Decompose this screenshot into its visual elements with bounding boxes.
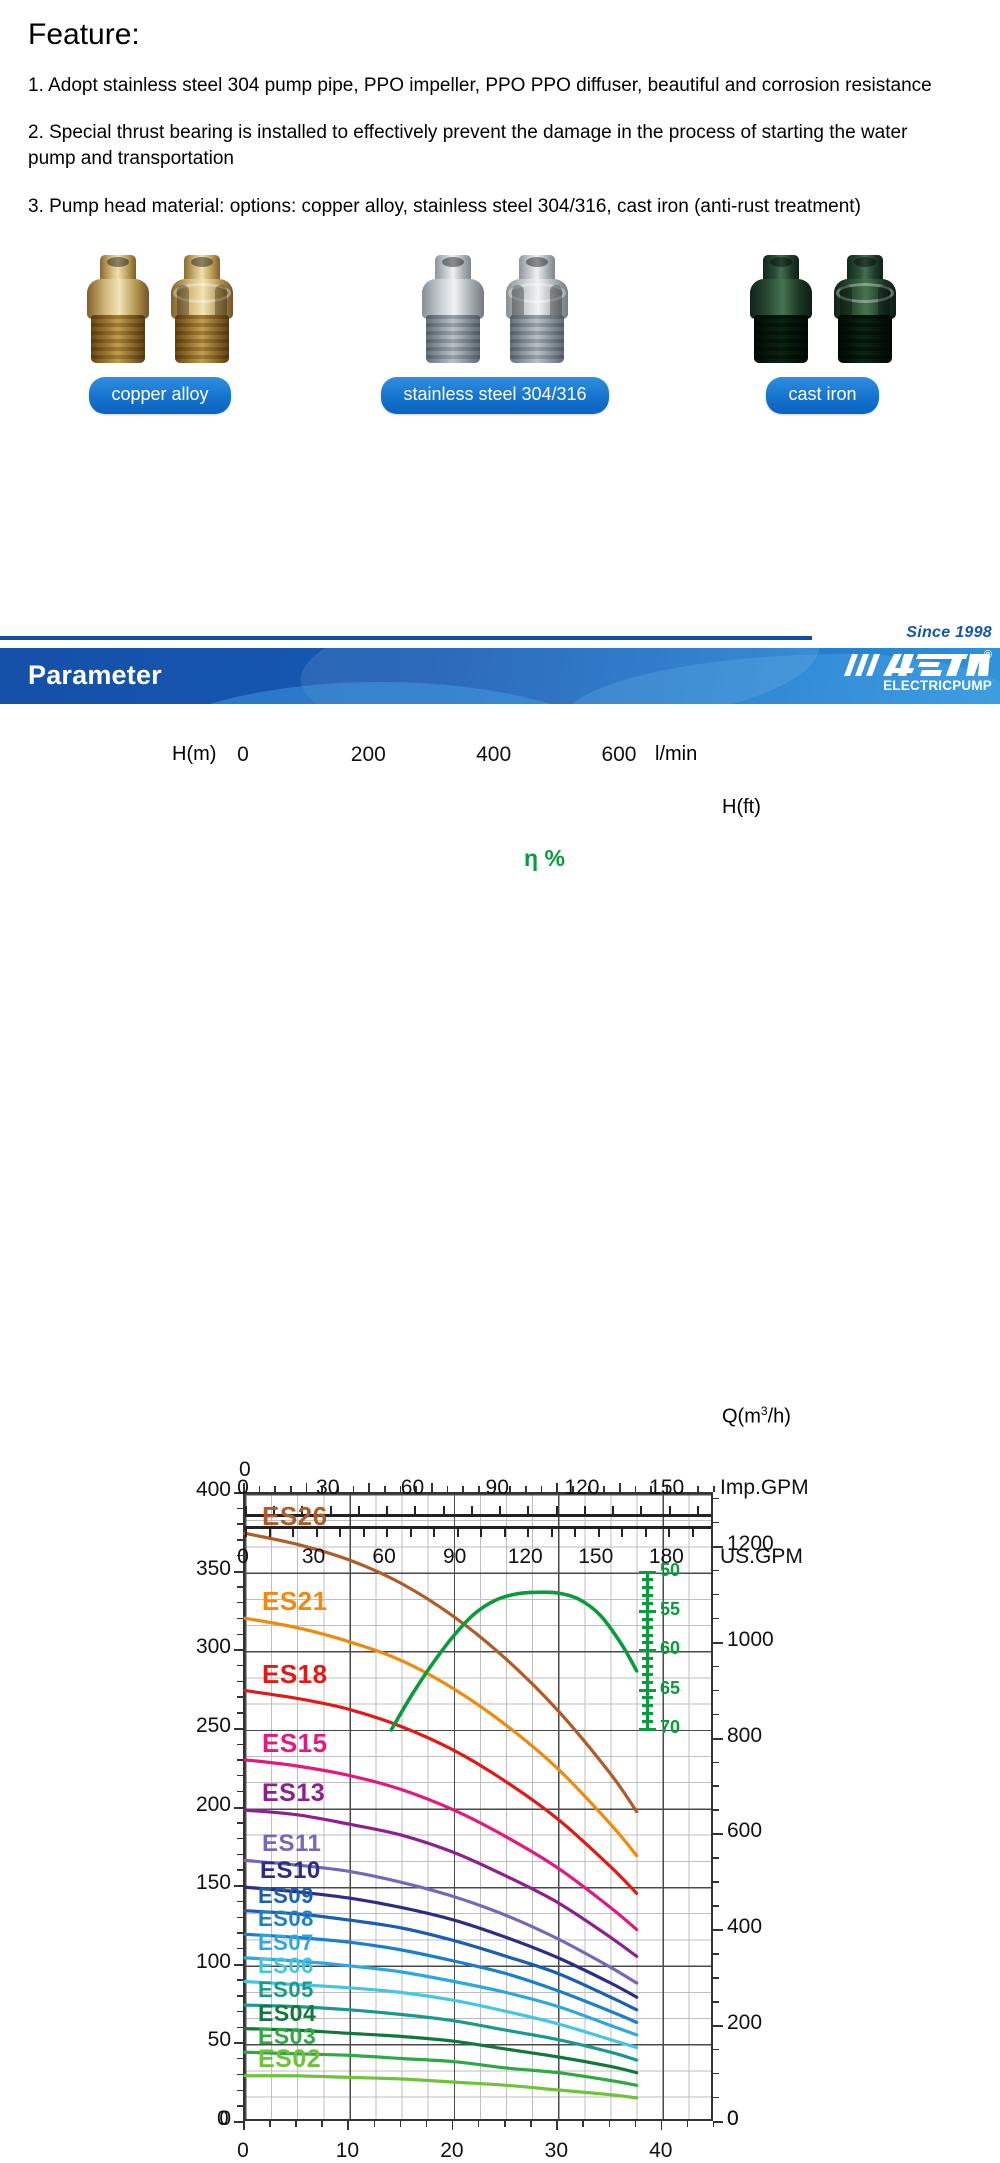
left-minor-tick [237, 1995, 243, 1996]
right-minor-tick [713, 1618, 719, 1619]
left-minor-tick [237, 1681, 243, 1682]
left-minor-tick [237, 1508, 243, 1509]
left-minor-tick [237, 2027, 243, 2028]
material-badge-copper-alloy[interactable]: copper alloy [89, 377, 230, 414]
left-minor-tick [237, 1602, 243, 1603]
series-label-ES10: ES10 [260, 1857, 321, 1885]
efficiency-tick [642, 1720, 653, 1723]
efficiency-tick [642, 1578, 653, 1581]
efficiency-tick [639, 1649, 656, 1652]
mastra-logo-icon: ® [802, 652, 992, 677]
pump-head-solid-icon [418, 255, 488, 363]
pump-head-solid-icon [746, 255, 816, 363]
right-minor-tick [713, 1785, 719, 1786]
right-minor-tick [713, 1522, 719, 1523]
right-minor-tick [713, 1546, 719, 1547]
left-minor-tick [237, 1523, 243, 1524]
series-label-ES18: ES18 [262, 1659, 328, 1690]
pump-head-strainer-icon [830, 255, 900, 363]
bottom-minor-tick [504, 2121, 505, 2127]
efficiency-tick [642, 1634, 653, 1637]
right-tick-label: 800 [727, 1724, 762, 1748]
right-tick-label: 400 [727, 1915, 762, 1939]
bottom-minor-tick [556, 2121, 557, 2127]
ruler-tick-label: 180 [642, 1545, 690, 1569]
efficiency-tick [642, 1641, 653, 1644]
ruler-tick-label: 30 [304, 1476, 352, 1500]
cast-iron-part-images [715, 248, 930, 363]
left-minor-tick [237, 1979, 243, 1980]
ruler-tick [245, 1528, 247, 1537]
top-tick-mark [619, 1483, 621, 1492]
feature-item-2: 2. Special thrust bearing is installed t… [28, 120, 933, 172]
top-tick-mark [635, 1486, 637, 1492]
feature-title: Feature: [28, 18, 972, 51]
left-minor-tick [237, 1665, 243, 1666]
left-minor-tick [237, 1618, 243, 1619]
top-tick-mark [713, 1486, 715, 1492]
axis-label-q: Q(m3/h) [722, 1404, 791, 1429]
efficiency-tick [639, 1728, 656, 1731]
registered-trademark-icon: ® [984, 650, 992, 661]
efficiency-tick [642, 1673, 653, 1676]
right-minor-tick [713, 2001, 719, 2002]
banner-title: Parameter [28, 660, 162, 691]
left-minor-tick [237, 1571, 243, 1572]
bottom-minor-tick [426, 2121, 427, 2127]
left-minor-tick [237, 1586, 243, 1587]
bottom-tick-label: 0 [221, 2139, 265, 2163]
pump-head-strainer-icon [502, 255, 572, 363]
series-label-ES08: ES08 [258, 1906, 314, 1932]
right-minor-tick [713, 1809, 719, 1810]
ruler-tick [386, 1506, 388, 1515]
right-tick-label: 600 [727, 1819, 762, 1843]
ruler-tick [574, 1528, 576, 1537]
efficiency-tick-label: 55 [660, 1599, 680, 1620]
left-tick-label: 250 [165, 1714, 231, 1738]
bottom-minor-tick [582, 2121, 583, 2127]
ruler-tick [245, 1506, 247, 1515]
right-tick-label: 1000 [727, 1628, 774, 1652]
pump-head-strainer-icon [167, 255, 237, 363]
ruler-tick-label: 90 [431, 1545, 479, 1569]
top-tick-mark [384, 1486, 386, 1492]
ruler-tick [697, 1506, 699, 1515]
left-minor-tick [237, 1696, 243, 1697]
left-minor-tick [237, 2074, 243, 2075]
bottom-minor-tick [452, 2121, 453, 2127]
material-gallery: copper alloy stainless steel 304/316 cas… [0, 248, 1000, 438]
efficiency-tick-label: 70 [660, 1717, 680, 1738]
series-label-ES11: ES11 [262, 1830, 321, 1858]
left-minor-tick [237, 1649, 243, 1650]
right-tick-label: 200 [727, 2011, 762, 2035]
ruler-tick [556, 1506, 558, 1515]
top-tick-mark [290, 1486, 292, 1492]
pump-head-solid-icon [83, 255, 153, 363]
ruler-tick [527, 1528, 529, 1537]
efficiency-scale: 5055606570 [636, 1561, 706, 1738]
efficiency-tick [642, 1681, 653, 1684]
top-tick-mark [541, 1486, 543, 1492]
top-tick-label: 200 [346, 743, 390, 767]
efficiency-tick [639, 1689, 656, 1692]
ruler-tick [692, 1528, 694, 1537]
left-minor-tick [237, 1854, 243, 1855]
ruler-tick [598, 1528, 600, 1537]
left-tick-label: 300 [165, 1635, 231, 1659]
ruler-tick-label: 0 [219, 1545, 267, 1569]
material-option-copper-alloy[interactable]: copper alloy [35, 248, 285, 414]
ruler-tick-label: 60 [360, 1545, 408, 1569]
copper-alloy-part-images [35, 248, 285, 363]
efficiency-label: η % [524, 845, 565, 872]
right-minor-tick [713, 1714, 719, 1715]
bottom-minor-tick [713, 2121, 714, 2127]
ruler-tick-label: 30 [290, 1545, 338, 1569]
series-label-ES21: ES21 [262, 1586, 328, 1617]
left-minor-tick [237, 1885, 243, 1886]
bottom-minor-tick [269, 2121, 270, 2127]
left-minor-tick [237, 1744, 243, 1745]
right-minor-tick [713, 1953, 719, 1954]
top-tick-mark [274, 1486, 276, 1492]
ruler-tick [504, 1528, 506, 1537]
right-minor-tick [713, 2049, 719, 2050]
left-minor-tick [237, 1917, 243, 1918]
efficiency-tick [642, 1618, 653, 1621]
ruler-tick [584, 1506, 586, 1515]
left-minor-tick [237, 1932, 243, 1933]
ruler-tick [499, 1506, 501, 1515]
left-tick-label: 200 [165, 1793, 231, 1817]
ruler-tick [414, 1506, 416, 1515]
left-minor-tick [237, 1838, 243, 1839]
left-zero-label: 0 [217, 2107, 229, 2131]
top-tick-mark [368, 1483, 370, 1492]
right-minor-tick [713, 1570, 719, 1571]
bottom-minor-tick [321, 2121, 322, 2127]
ruler-tick-label: 150 [572, 1545, 620, 1569]
brand-logo: ® ELECTRICPUMP [802, 652, 992, 693]
efficiency-tick [642, 1696, 653, 1699]
performance-chart: H(m) l/min H(ft) η % 5055606570 Q(m3/h) … [0, 710, 1000, 1659]
ruler-tick [330, 1506, 332, 1515]
efficiency-tick [642, 1626, 653, 1629]
ruler-tick [551, 1528, 553, 1537]
material-badge-stainless-steel[interactable]: stainless steel 304/316 [381, 377, 608, 414]
parameter-banner: Parameter ® [0, 648, 1000, 704]
material-badge-cast-iron[interactable]: cast iron [766, 377, 878, 414]
bottom-tick-label: 20 [430, 2139, 474, 2163]
left-minor-tick [237, 1728, 243, 1729]
left-minor-tick [237, 1822, 243, 1823]
left-minor-tick [237, 2042, 243, 2043]
top-tick-label: 600 [597, 743, 641, 767]
ruler-tick [339, 1528, 341, 1537]
right-minor-tick [713, 2025, 719, 2026]
right-minor-tick [713, 1666, 719, 1667]
bottom-minor-tick [609, 2121, 610, 2127]
ruler-tick [433, 1528, 435, 1537]
brand-subtitle: ELECTRICPUMP [802, 679, 992, 693]
right-minor-tick [713, 1762, 719, 1763]
left-minor-tick [237, 1964, 243, 1965]
ruler-tick [471, 1506, 473, 1515]
ruler-tick [527, 1506, 529, 1515]
efficiency-tick [639, 1610, 656, 1613]
ruler-tick-label: 60 [388, 1476, 436, 1500]
left-minor-tick [237, 2058, 243, 2059]
bottom-minor-tick [635, 2121, 636, 2127]
top-tick-mark [447, 1486, 449, 1492]
right-zero-label: 0 [727, 2107, 739, 2131]
ruler-tick-label: 120 [501, 1545, 549, 1569]
right-minor-tick [713, 1498, 719, 1499]
ruler-tick [612, 1506, 614, 1515]
efficiency-tick [642, 1594, 653, 1597]
right-minor-tick [713, 1857, 719, 1858]
right-minor-tick [713, 1905, 719, 1906]
axis-label-hft: H(ft) [722, 796, 761, 819]
right-minor-tick [713, 1881, 719, 1882]
left-minor-tick [237, 1901, 243, 1902]
left-minor-tick [237, 2090, 243, 2091]
left-minor-tick [237, 1759, 243, 1760]
left-minor-tick [237, 1634, 243, 1635]
right-minor-tick [713, 1642, 719, 1643]
since-label: Since 1998 [906, 624, 992, 642]
series-label-ES15: ES15 [262, 1728, 328, 1759]
bottom-minor-tick [243, 2121, 244, 2127]
left-tick-label: 50 [165, 2028, 231, 2052]
top-tick-label: 0 [221, 743, 265, 767]
ruler-tick [645, 1528, 647, 1537]
series-label-ES13: ES13 [262, 1779, 325, 1808]
right-minor-tick [713, 2073, 719, 2074]
left-minor-tick [237, 1807, 243, 1808]
bottom-minor-tick [295, 2121, 296, 2127]
right-tick-label: 1200 [727, 1532, 774, 1556]
efficiency-tick-label: 60 [660, 1638, 680, 1659]
axis-label-imp-gpm: Imp.GPM [720, 1476, 809, 1500]
curve-ES02 [245, 2076, 637, 2098]
right-minor-tick [713, 1977, 719, 1978]
ruler-tick-label: 150 [643, 1476, 691, 1500]
bottom-minor-tick [374, 2121, 375, 2127]
bottom-tick-label: 10 [325, 2139, 369, 2163]
top-tick-mark [525, 1486, 527, 1492]
bottom-minor-tick [530, 2121, 531, 2127]
bottom-minor-tick [347, 2121, 348, 2127]
left-tick-label: 150 [165, 1871, 231, 1895]
left-minor-tick [237, 1775, 243, 1776]
top-tick-mark [462, 1486, 464, 1492]
left-tick-label: 100 [165, 1950, 231, 1974]
series-label-ES09: ES09 [258, 1883, 314, 1909]
material-option-cast-iron[interactable]: cast iron [715, 248, 930, 414]
feature-item-3: 3. Pump head material: options: copper a… [28, 194, 933, 220]
top-tick-mark [697, 1486, 699, 1492]
efficiency-tick [642, 1712, 653, 1715]
efficiency-tick [642, 1704, 653, 1707]
bottom-tick-label: 30 [534, 2139, 578, 2163]
bottom-minor-tick [400, 2121, 401, 2127]
ruler-tick [668, 1528, 670, 1537]
right-minor-tick [713, 1690, 719, 1691]
series-label-ES02: ES02 [258, 2045, 321, 2074]
left-minor-tick [237, 2011, 243, 2012]
ruler-tick-label: 90 [473, 1476, 521, 1500]
ruler-tick [386, 1528, 388, 1537]
stainless-steel-part-images [355, 248, 635, 363]
left-minor-tick [237, 1539, 243, 1540]
curve-efficiency [391, 1592, 637, 1730]
bottom-minor-tick [687, 2121, 688, 2127]
series-label-ES07: ES07 [258, 1930, 314, 1956]
ruler-tick [457, 1528, 459, 1537]
left-minor-tick [237, 2105, 243, 2106]
efficiency-tick [639, 1571, 656, 1574]
right-minor-tick [713, 2097, 719, 2098]
ruler-tick [443, 1506, 445, 1515]
left-minor-tick [237, 1869, 243, 1870]
right-minor-tick [713, 1738, 719, 1739]
ruler-tick [410, 1528, 412, 1537]
right-minor-tick [713, 1594, 719, 1595]
ruler-tick [640, 1506, 642, 1515]
top-tick-mark [353, 1486, 355, 1492]
ruler-tick [480, 1528, 482, 1537]
right-minor-tick [713, 1929, 719, 1930]
feature-item-1: 1. Adopt stainless steel 304 pump pipe, … [28, 73, 933, 99]
bottom-minor-tick [661, 2121, 662, 2127]
top-tick-label: 400 [472, 743, 516, 767]
divider-rule [0, 636, 812, 640]
since-row: Since 1998 [0, 624, 1000, 648]
efficiency-tick [642, 1586, 653, 1589]
efficiency-tick [642, 1602, 653, 1605]
ruler-tick [358, 1506, 360, 1515]
right-minor-tick [713, 1833, 719, 1834]
efficiency-tick-label: 65 [660, 1678, 680, 1699]
feature-section: Feature: 1. Adopt stainless steel 304 pu… [0, 0, 1000, 220]
axis-label-hm: H(m) [172, 743, 216, 766]
left-minor-tick [237, 1948, 243, 1949]
bottom-minor-tick [478, 2121, 479, 2127]
material-option-stainless-steel[interactable]: stainless steel 304/316 [355, 248, 635, 414]
series-label-ES06: ES06 [258, 1953, 314, 1979]
bottom-tick-label: 40 [639, 2139, 683, 2163]
left-minor-tick [237, 1791, 243, 1792]
ruler-tick [621, 1528, 623, 1537]
ruler-tick-label: 0 [219, 1476, 267, 1500]
ruler-tick [363, 1528, 365, 1537]
series-label-ES26: ES26 [262, 1501, 328, 1532]
ruler-tick-label: 120 [558, 1476, 606, 1500]
left-minor-tick [237, 1712, 243, 1713]
efficiency-tick [642, 1665, 653, 1668]
axis-label-lmin: l/min [655, 743, 697, 766]
ruler-tick [669, 1506, 671, 1515]
